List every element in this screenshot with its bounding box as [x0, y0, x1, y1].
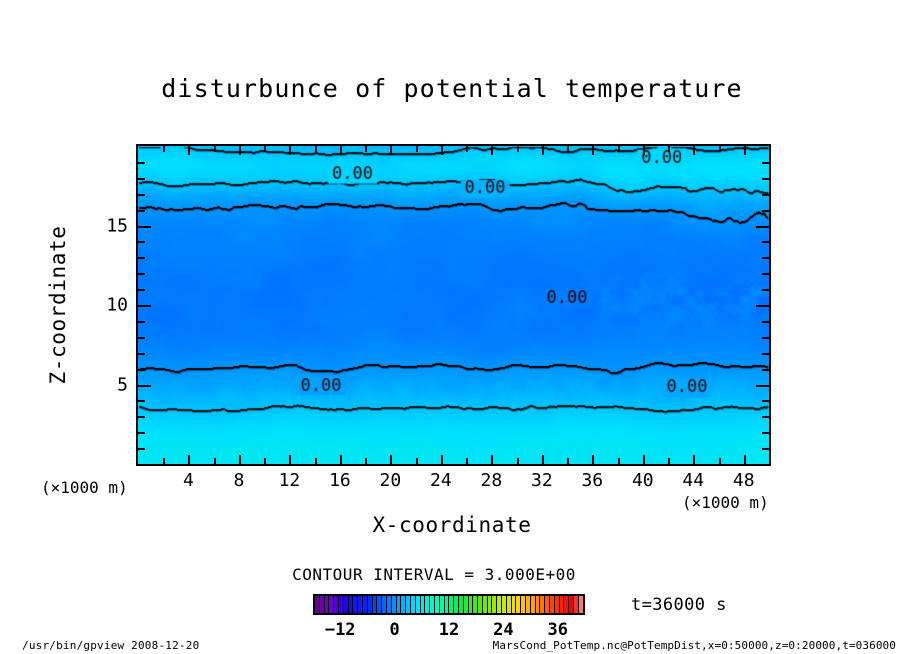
y-axis-tick — [762, 257, 769, 259]
x-axis-tick — [719, 458, 721, 464]
x-axis-tick — [163, 146, 165, 152]
x-axis-tick — [340, 455, 342, 464]
x-axis-tick — [264, 146, 266, 152]
y-axis-tick — [756, 226, 769, 228]
x-tick-label: 24 — [430, 470, 452, 491]
x-axis-tick — [517, 146, 519, 152]
x-axis-tick — [163, 458, 165, 464]
y-axis-tick — [138, 321, 145, 323]
x-axis-tick — [365, 458, 367, 464]
y-axis-tick — [762, 337, 769, 339]
y-axis-tick — [138, 226, 151, 228]
y-axis-tick — [138, 369, 145, 371]
x-axis-title: X-coordinate — [0, 513, 904, 537]
contour-plot-area — [136, 144, 771, 466]
x-units-right: (×1000 m) — [682, 493, 769, 512]
x-axis-tick — [365, 146, 367, 152]
colorbar-tick-label: 12 — [439, 620, 459, 640]
x-axis-tick — [289, 455, 291, 464]
x-axis-tick — [643, 455, 645, 464]
x-axis-tick — [592, 455, 594, 464]
time-label: t=36000 s — [631, 595, 727, 615]
colorbar-band — [579, 596, 583, 613]
x-axis-tick — [315, 458, 317, 464]
x-axis-tick — [416, 146, 418, 152]
y-axis-tick — [138, 194, 145, 196]
y-axis-tick — [756, 305, 769, 307]
x-axis-tick — [567, 146, 569, 152]
x-axis-tick — [441, 455, 443, 464]
x-axis-tick — [188, 146, 190, 155]
colorbar-tick-label: 0 — [389, 620, 399, 640]
y-axis-tick — [762, 353, 769, 355]
y-axis-tick — [138, 273, 145, 275]
y-axis-tick — [762, 369, 769, 371]
x-axis-tick — [517, 458, 519, 464]
x-axis-tick — [744, 455, 746, 464]
x-axis-tick — [542, 146, 544, 155]
x-axis-tick — [239, 455, 241, 464]
x-axis-tick — [390, 455, 392, 464]
x-axis-tick — [315, 146, 317, 152]
footer-dataset: MarsCond_PotTemp.nc@PotTempDist,x=0:5000… — [493, 639, 896, 652]
x-tick-label: 40 — [632, 470, 654, 491]
y-axis-tick — [762, 448, 769, 450]
y-tick-label: 10 — [98, 295, 128, 316]
y-axis-tick — [138, 210, 145, 212]
footer-command: /usr/bin/gpview 2008-12-20 — [22, 639, 199, 652]
x-axis-tick — [416, 458, 418, 464]
contour-field-canvas — [138, 146, 769, 464]
x-tick-label: 48 — [733, 470, 755, 491]
x-axis-tick — [491, 455, 493, 464]
x-axis-tick — [289, 146, 291, 155]
x-tick-label: 16 — [329, 470, 351, 491]
x-units-left: (×1000 m) — [41, 478, 128, 497]
contour-interval-text: CONTOUR INTERVAL = 3.000E+00 — [0, 565, 904, 584]
y-axis-tick — [762, 194, 769, 196]
x-axis-tick — [643, 146, 645, 155]
y-axis-tick — [138, 337, 145, 339]
x-axis-tick — [239, 146, 241, 155]
y-axis-tick — [762, 210, 769, 212]
y-axis-tick — [762, 273, 769, 275]
y-axis-tick — [762, 321, 769, 323]
x-axis-tick — [542, 455, 544, 464]
y-axis-tick — [138, 241, 145, 243]
x-axis-tick — [466, 146, 468, 152]
x-axis-tick — [390, 146, 392, 155]
page-title: disturbunce of potential temperature — [0, 74, 904, 103]
y-axis-tick — [138, 400, 145, 402]
y-axis-tick — [138, 416, 145, 418]
x-axis-tick — [618, 458, 620, 464]
x-axis-tick — [744, 146, 746, 155]
x-axis-tick — [264, 458, 266, 464]
y-axis-tick — [138, 448, 145, 450]
y-axis-tick — [138, 432, 145, 434]
x-tick-label: 28 — [481, 470, 503, 491]
y-axis-title: Z-coordinate — [46, 185, 70, 425]
y-axis-tick — [762, 289, 769, 291]
colorbar — [313, 594, 585, 615]
y-axis-tick — [138, 162, 145, 164]
y-axis-tick — [762, 400, 769, 402]
x-axis-tick — [668, 146, 670, 152]
contour-interval-value: CONTOUR INTERVAL = 3.000E+00 — [292, 565, 576, 584]
y-axis-tick — [762, 241, 769, 243]
y-axis-tick — [762, 162, 769, 164]
x-tick-label: 20 — [380, 470, 402, 491]
x-tick-label: 44 — [682, 470, 704, 491]
x-axis-tick — [214, 146, 216, 152]
x-tick-label: 8 — [234, 470, 245, 491]
x-tick-label: 4 — [183, 470, 194, 491]
x-axis-tick — [618, 146, 620, 152]
x-axis-tick — [466, 458, 468, 464]
x-tick-label: 32 — [531, 470, 553, 491]
y-axis-tick — [138, 385, 151, 387]
y-axis-tick — [138, 178, 145, 180]
x-axis-tick — [441, 146, 443, 155]
y-tick-label: 15 — [98, 215, 128, 236]
x-axis-tick — [340, 146, 342, 155]
x-tick-label: 36 — [581, 470, 603, 491]
y-axis-tick — [762, 416, 769, 418]
colorbar-tick-label: 24 — [493, 620, 513, 640]
y-axis-tick — [138, 353, 145, 355]
x-axis-tick — [491, 146, 493, 155]
y-axis-tick — [138, 257, 145, 259]
x-axis-tick — [188, 455, 190, 464]
x-axis-tick — [719, 146, 721, 152]
y-tick-label: 5 — [98, 374, 128, 395]
y-axis-tick — [762, 178, 769, 180]
y-axis-tick — [756, 385, 769, 387]
y-axis-tick — [138, 289, 145, 291]
x-axis-tick — [214, 458, 216, 464]
colorbar-tick-label: 36 — [548, 620, 568, 640]
x-axis-tick — [592, 146, 594, 155]
x-tick-label: 12 — [279, 470, 301, 491]
y-axis-tick — [762, 432, 769, 434]
x-axis-tick — [567, 458, 569, 464]
x-axis-tick — [693, 146, 695, 155]
colorbar-tick-label: −12 — [325, 620, 356, 640]
x-axis-tick — [668, 458, 670, 464]
y-axis-tick — [138, 305, 151, 307]
x-axis-tick — [693, 455, 695, 464]
